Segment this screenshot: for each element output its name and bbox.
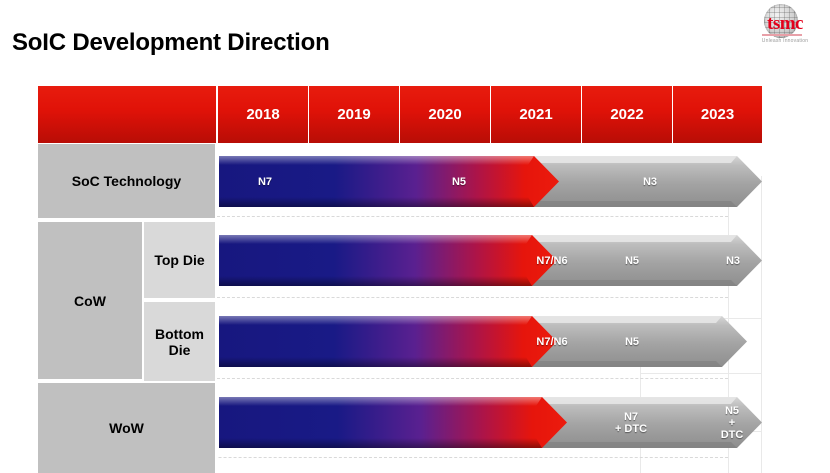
header-year-2021: 2021 <box>491 86 582 143</box>
header-year-2020: 2020 <box>400 86 491 143</box>
header-year-2023: 2023 <box>673 86 762 143</box>
row-label-cow: CoW <box>38 222 144 381</box>
bar-row-wow: N7 + DTC N5 + DTC <box>219 395 762 450</box>
row-separator <box>217 378 728 379</box>
logo-tagline: Unleash Innovation <box>748 38 822 44</box>
bar-row-soc-technology: N7 N5 N3 <box>219 154 762 209</box>
bar-row-cow-top-die: N7/N6 N5 N3 <box>219 233 762 288</box>
logo-underline <box>762 34 802 36</box>
row-sublabel-bottom-die-text: Bottom Die <box>155 326 204 358</box>
page-title: SoIC Development Direction <box>12 29 330 57</box>
row-label-wow: WoW <box>38 383 217 473</box>
tsmc-logo: tsmc Unleash Innovation <box>748 3 822 47</box>
grid-line-horizontal <box>640 373 762 374</box>
row-separator <box>217 216 728 217</box>
bar-segment-gradient-n7-n6 <box>219 314 557 369</box>
bar-row-cow-bottom-die: N7/N6 N5 <box>219 314 762 369</box>
bar-segment-gradient-blue-red <box>219 395 567 450</box>
row-sublabel-top-die: Top Die <box>144 222 217 300</box>
bar-segment-gradient-n7-n6 <box>219 233 557 288</box>
row-label-soc-technology: SoC Technology <box>38 144 217 220</box>
roadmap-table: 2018 2019 2020 2021 2022 2023 SoC Techno… <box>38 86 762 473</box>
header-corner-cell <box>38 86 217 143</box>
header-year-2022: 2022 <box>582 86 673 143</box>
row-sublabel-bottom-die: Bottom Die <box>144 302 217 381</box>
table-header-row: 2018 2019 2020 2021 2022 2023 <box>38 86 762 143</box>
header-year-2019: 2019 <box>309 86 400 143</box>
row-separator <box>217 297 728 298</box>
bar-segment-gradient-n7-n5 <box>219 154 559 209</box>
header-year-2018: 2018 <box>218 86 309 143</box>
tsmc-wordmark: tsmc <box>752 14 818 33</box>
